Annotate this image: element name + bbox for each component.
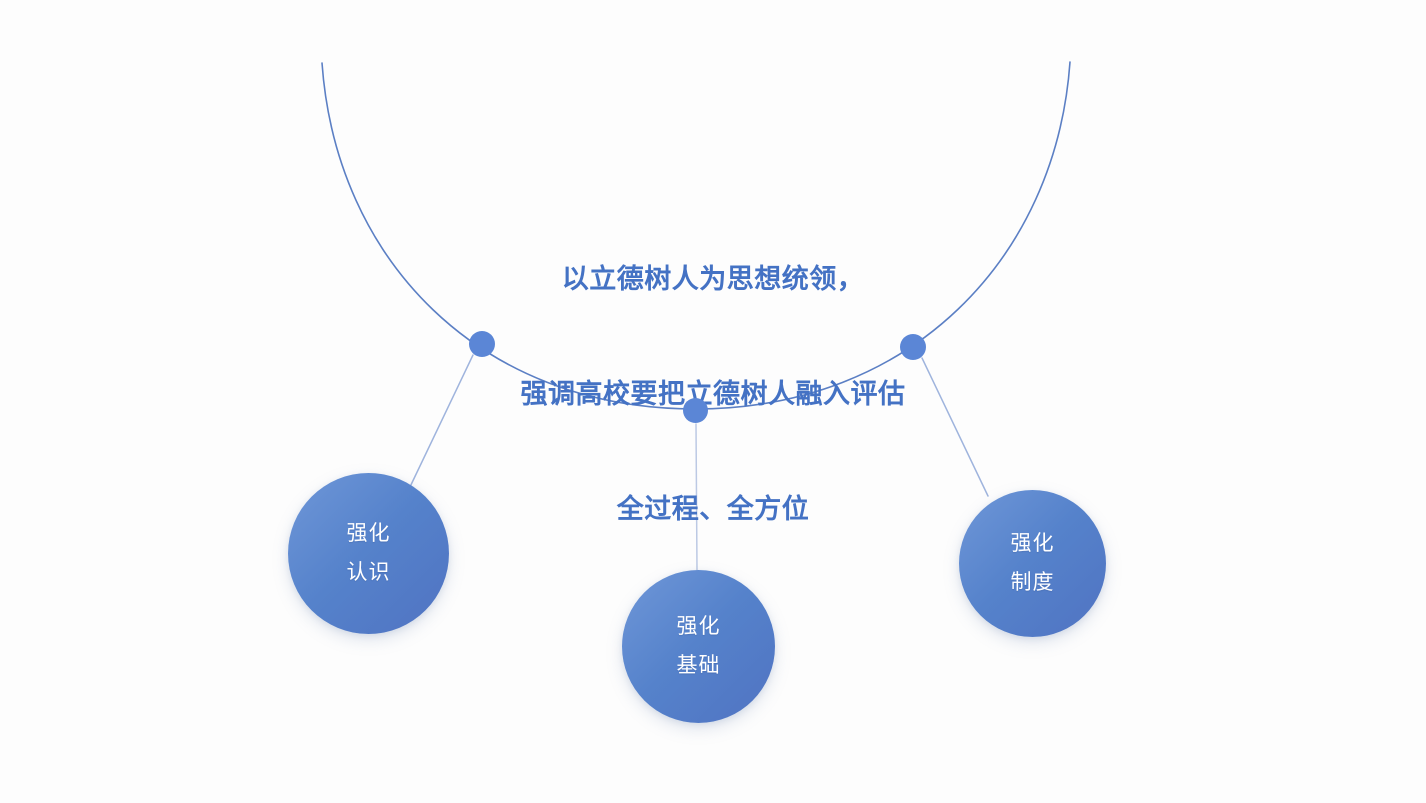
bubble-2-line-2: 基础 [677, 647, 721, 686]
title-line-1: 以立德树人为思想统领， [0, 260, 1426, 298]
bubble-1-line-1: 强化 [347, 515, 391, 554]
arc-node-left[interactable] [469, 331, 495, 357]
bubble-3-line-1: 强化 [1011, 525, 1055, 564]
title-line-2: 强调高校要把立德树人融入评估 [0, 375, 1426, 413]
arc-node-center[interactable] [683, 398, 708, 423]
bubble-strengthen-awareness[interactable]: 强化 认识 [288, 473, 449, 634]
title-line-3: 全过程、全方位 [0, 490, 1426, 528]
arc-node-right[interactable] [900, 334, 926, 360]
bubble-strengthen-system[interactable]: 强化 制度 [959, 490, 1106, 637]
bubble-3-line-2: 制度 [1011, 564, 1055, 603]
bubble-2-line-1: 强化 [677, 608, 721, 647]
slide-title: 以立德树人为思想统领， 强调高校要把立德树人融入评估 全过程、全方位 [0, 183, 1426, 605]
bubble-1-line-2: 认识 [347, 554, 391, 593]
bubble-strengthen-foundation[interactable]: 强化 基础 [622, 570, 775, 723]
slide-canvas: 以立德树人为思想统领， 强调高校要把立德树人融入评估 全过程、全方位 强化 认识… [0, 0, 1426, 803]
